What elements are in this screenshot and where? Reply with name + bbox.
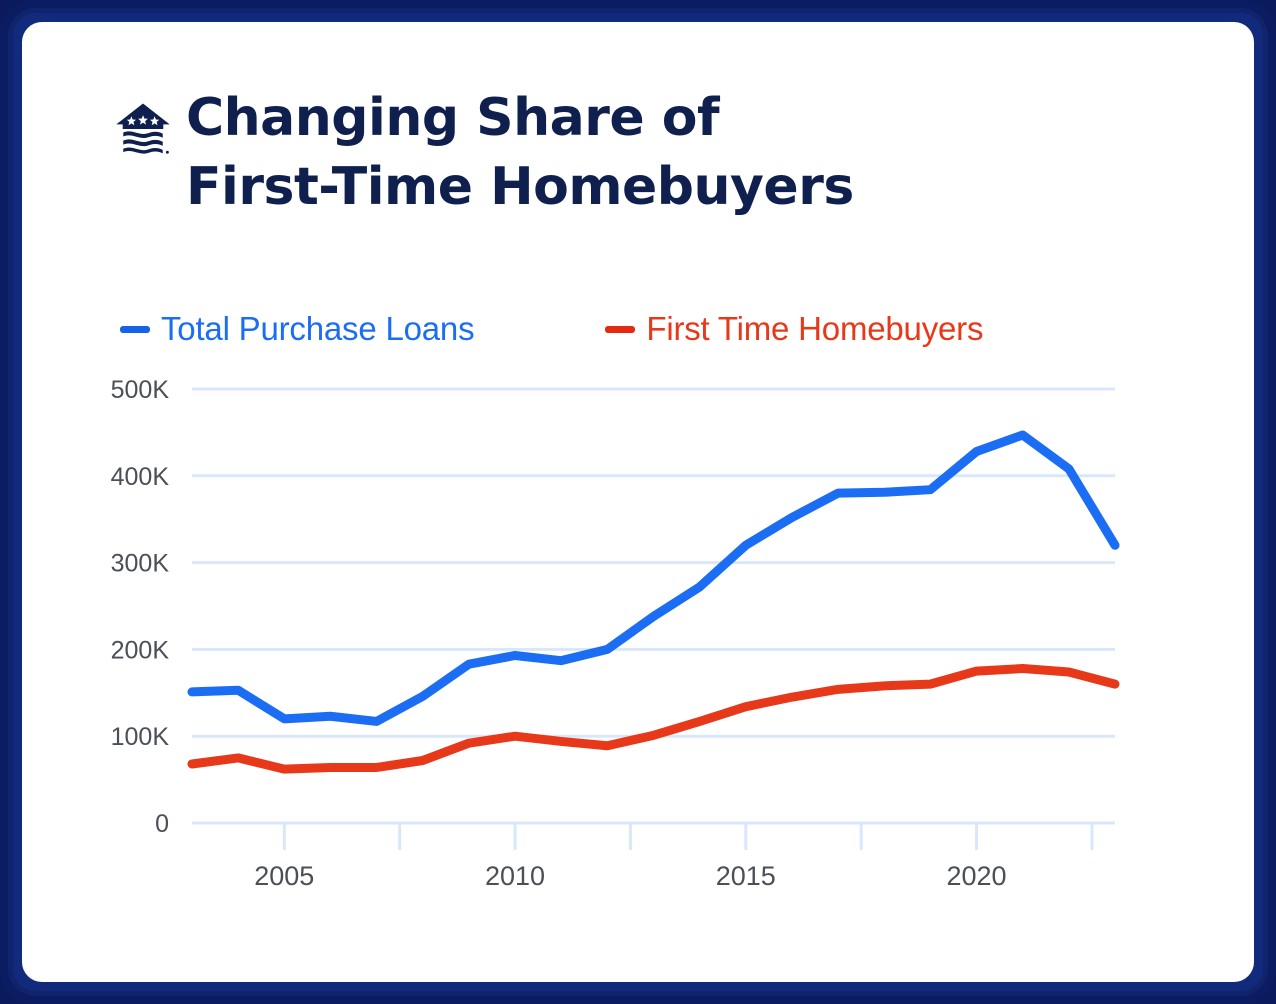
line-swatch-red-icon: [605, 326, 635, 333]
y-axis-tick-label: 100K: [111, 723, 170, 751]
x-axis-tick-label: 2015: [716, 861, 776, 891]
y-axis-tick-label: 200K: [111, 636, 170, 664]
legend-label-first-time-homebuyers: First Time Homebuyers: [646, 310, 983, 348]
y-axis-tick-label: 500K: [111, 376, 170, 404]
series-line-first-time-homebuyers: [192, 669, 1115, 770]
outer-frame: Changing Share of First-Time Homebuyers …: [0, 0, 1276, 1004]
y-axis-tick-label: 300K: [111, 550, 170, 578]
x-axis-tick-label: 2005: [254, 861, 314, 891]
y-axis-tick-label: 400K: [111, 463, 170, 491]
series-line-total-purchase-loans: [192, 435, 1115, 721]
x-axis-tick-label: 2020: [947, 861, 1007, 891]
chart-legend: Total Purchase Loans First Time Homebuye…: [120, 310, 983, 348]
chart-card: Changing Share of First-Time Homebuyers …: [22, 22, 1254, 982]
house-stars-stripes-logo-icon: [114, 100, 172, 158]
x-axis-tick-label: 2010: [485, 861, 545, 891]
page-title: Changing Share of First-Time Homebuyers: [186, 84, 854, 221]
line-swatch-blue-icon: [120, 326, 150, 333]
legend-item-first-time-homebuyers[interactable]: First Time Homebuyers: [605, 310, 983, 348]
y-axis-tick-label: 0: [155, 810, 169, 838]
legend-label-total-purchase-loans: Total Purchase Loans: [161, 310, 474, 348]
legend-item-total-purchase-loans[interactable]: Total Purchase Loans: [120, 310, 474, 348]
header: Changing Share of First-Time Homebuyers: [114, 84, 1114, 221]
